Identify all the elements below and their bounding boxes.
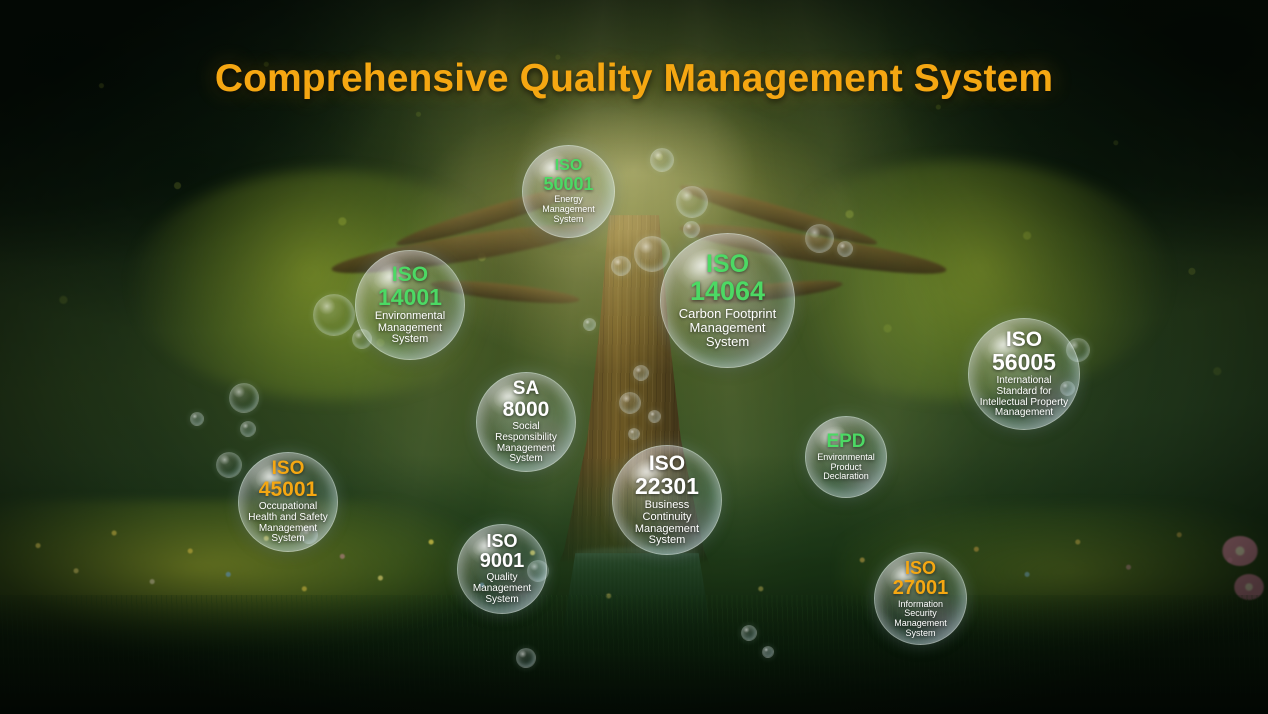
certification-bubble-iso-45001[interactable]: ISO45001Occupational Health and Safety M… bbox=[238, 452, 338, 552]
decorative-bubble-icon bbox=[741, 625, 757, 641]
certification-code: ISO bbox=[272, 459, 305, 478]
certification-bubble-iso-14064[interactable]: ISO14064Carbon Footprint Management Syst… bbox=[660, 233, 795, 368]
decorative-bubble-icon bbox=[683, 221, 700, 238]
certification-description: Information Security Management System bbox=[879, 600, 962, 639]
certification-number: 27001 bbox=[893, 578, 949, 598]
decorative-bubble-icon bbox=[837, 241, 853, 257]
decorative-bubble-icon bbox=[611, 256, 631, 276]
presentation-slide: Comprehensive Quality Management System … bbox=[0, 0, 1268, 714]
decorative-bubble-icon bbox=[619, 392, 641, 414]
decorative-bubble-icon bbox=[516, 648, 536, 668]
certification-bubble-iso-50001[interactable]: ISO50001Energy Management System bbox=[522, 145, 615, 238]
certification-code: ISO bbox=[1006, 329, 1042, 350]
certification-description: Business Continuity Management System bbox=[617, 500, 717, 548]
certification-bubble-iso-9001[interactable]: ISO9001Quality Management System bbox=[457, 524, 547, 614]
decorative-bubble-icon bbox=[628, 428, 640, 440]
foreground-grass bbox=[0, 595, 1268, 714]
certification-code: ISO bbox=[649, 453, 685, 474]
certification-code: SA bbox=[513, 379, 539, 398]
certification-description: Social Responsibility Management System bbox=[481, 422, 571, 465]
certification-description: Carbon Footprint Management System bbox=[665, 307, 790, 349]
decorative-bubble-icon bbox=[216, 452, 242, 478]
certification-description: Environmental Product Declaration bbox=[810, 453, 882, 482]
certification-description: Occupational Health and Safety Managemen… bbox=[243, 502, 333, 545]
decorative-bubble-icon bbox=[805, 224, 834, 253]
decorative-bubble-icon bbox=[240, 421, 256, 437]
certification-number: 14001 bbox=[378, 286, 442, 309]
certification-bubble-iso-27001[interactable]: ISO27001Information Security Management … bbox=[874, 552, 967, 645]
certification-number: 50001 bbox=[543, 175, 593, 193]
decorative-bubble-icon bbox=[648, 410, 661, 423]
decorative-bubble-icon bbox=[190, 412, 204, 426]
page-title: Comprehensive Quality Management System bbox=[0, 57, 1268, 101]
certification-bubble-iso-56005[interactable]: ISO56005International Standard for Intel… bbox=[968, 318, 1080, 430]
certification-bubble-iso-14001[interactable]: ISO14001Environmental Management System bbox=[355, 250, 465, 360]
certification-code: EPD bbox=[826, 432, 865, 451]
certification-number: 22301 bbox=[635, 475, 699, 498]
certification-number: 9001 bbox=[480, 551, 525, 571]
certification-code: ISO bbox=[392, 264, 428, 285]
certification-bubble-sa-8000[interactable]: SA8000Social Responsibility Management S… bbox=[476, 372, 576, 472]
certification-bubble-epd[interactable]: EPDEnvironmental Product Declaration bbox=[805, 416, 887, 498]
certification-description: International Standard for Intellectual … bbox=[973, 376, 1075, 419]
decorative-bubble-icon bbox=[633, 365, 649, 381]
decorative-bubble-icon bbox=[583, 318, 596, 331]
decorative-bubble-icon bbox=[650, 148, 674, 172]
certification-description: Environmental Management System bbox=[360, 311, 460, 347]
certification-code: ISO bbox=[706, 252, 749, 277]
certification-code: ISO bbox=[555, 158, 583, 174]
pink-daisy-flower bbox=[1222, 536, 1258, 566]
certification-code: ISO bbox=[905, 559, 936, 577]
certification-number: 8000 bbox=[503, 399, 550, 420]
decorative-bubble-icon bbox=[634, 236, 670, 272]
certification-number: 56005 bbox=[992, 351, 1056, 374]
decorative-bubble-icon bbox=[676, 186, 708, 218]
decorative-bubble-icon bbox=[229, 383, 259, 413]
decorative-bubble-icon bbox=[313, 294, 355, 336]
certification-description: Energy Management System bbox=[527, 195, 610, 224]
decorative-bubble-icon bbox=[762, 646, 774, 658]
certification-description: Quality Management System bbox=[462, 573, 542, 605]
certification-bubble-iso-22301[interactable]: ISO22301Business Continuity Management S… bbox=[612, 445, 722, 555]
certification-number: 14064 bbox=[690, 278, 765, 305]
certification-code: ISO bbox=[486, 532, 517, 550]
certification-number: 45001 bbox=[259, 479, 317, 500]
